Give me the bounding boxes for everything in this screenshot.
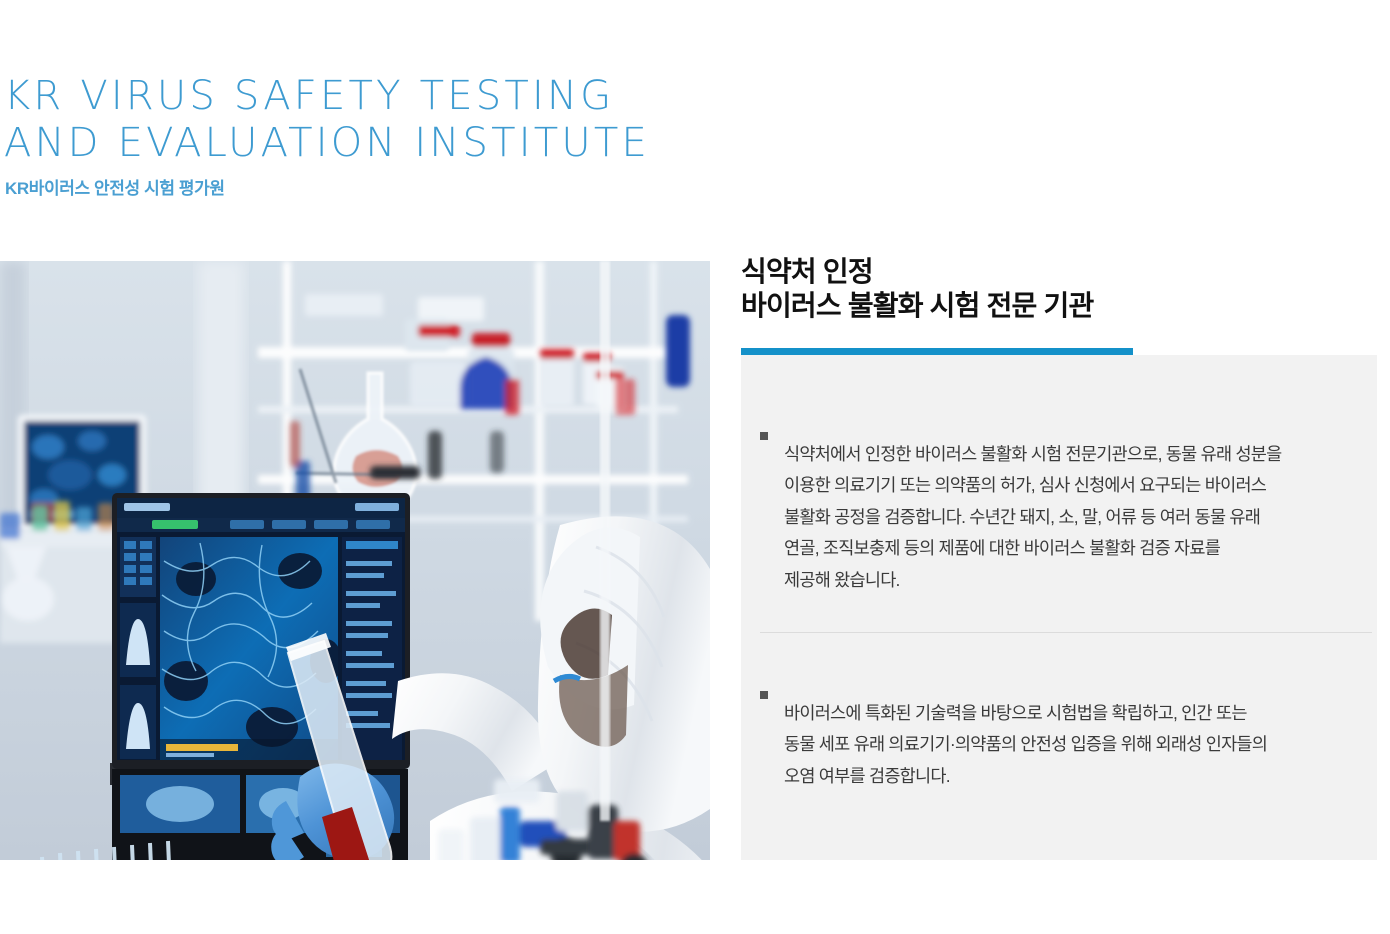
page-title: KR VIRUS SAFETY TESTING AND EVALUATION I… bbox=[4, 73, 704, 167]
panel-heading: 식약처 인정 바이러스 불활화 시험 전문 기관 bbox=[741, 255, 1377, 323]
accent-bar bbox=[741, 348, 1133, 355]
bullet-item-2-text: 바이러스에 특화된 기술력을 바탕으로 시험법을 확립하고, 인간 또는 동물 … bbox=[784, 698, 1360, 793]
lab-researcher-photo bbox=[0, 261, 710, 860]
panel-content-box: 식약처에서 인정한 바이러스 불활화 시험 전문기관으로, 동물 유래 성분을 … bbox=[741, 355, 1377, 860]
site-header: KR VIRUS SAFETY TESTING AND EVALUATION I… bbox=[0, 0, 740, 261]
square-bullet-icon bbox=[760, 432, 768, 440]
bullet-item-2: 바이러스에 특화된 기술력을 바탕으로 시험법을 확립하고, 인간 또는 동물 … bbox=[760, 680, 1360, 810]
square-bullet-icon bbox=[760, 691, 768, 699]
page-subtitle: KR바이러스 안전성 시험 평가원 bbox=[5, 178, 225, 200]
info-panel: 식약처 인정 바이러스 불활화 시험 전문 기관 식약처에서 인정한 바이러스 … bbox=[741, 255, 1377, 323]
bullet-item-1: 식약처에서 인정한 바이러스 불활화 시험 전문기관으로, 동물 유래 성분을 … bbox=[760, 421, 1360, 614]
bullet-item-1-text: 식약처에서 인정한 바이러스 불활화 시험 전문기관으로, 동물 유래 성분을 … bbox=[784, 439, 1360, 597]
lab-scene-illustration bbox=[0, 261, 710, 860]
panel-divider bbox=[760, 632, 1372, 633]
